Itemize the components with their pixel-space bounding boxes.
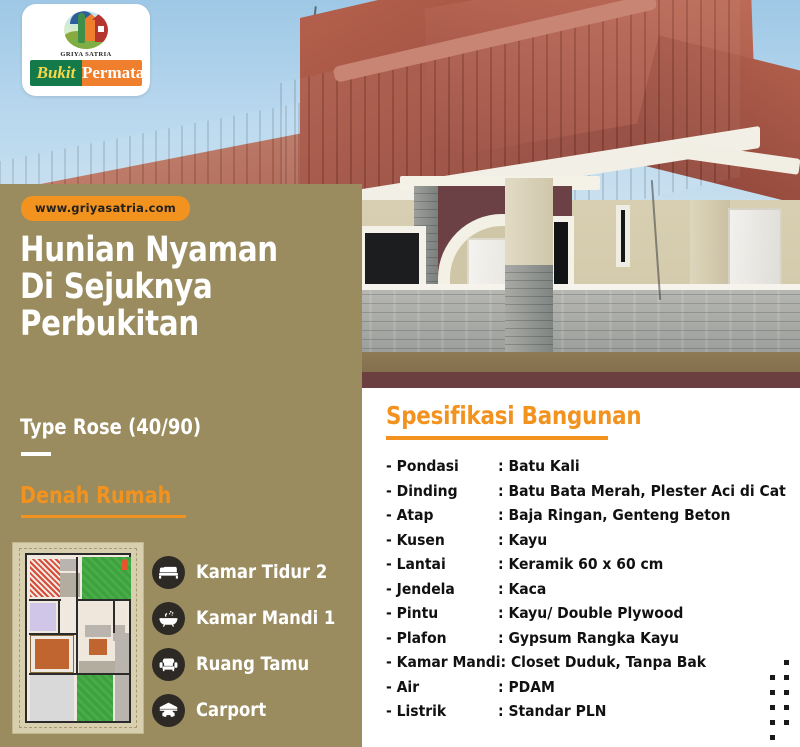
- website-url-badge[interactable]: www.griyasatria.com: [21, 196, 190, 221]
- spec-key: - Pintu: [386, 601, 498, 626]
- spec-row: - PondasiBatu Kali: [386, 454, 790, 479]
- spec-key: - Lantai: [386, 552, 498, 577]
- logo-word-permata: Permata: [82, 60, 142, 86]
- list-item[interactable]: Ruang Tamu: [152, 641, 357, 687]
- dot: [770, 735, 775, 740]
- headline-line-2: Di Sejuknya: [20, 269, 327, 306]
- armchair-icon: [152, 648, 185, 681]
- headline-line-1: Hunian Nyaman: [20, 232, 327, 269]
- spec-value: PDAM: [498, 675, 555, 700]
- spec-value: Batu Bata Merah, Plester Aci di Cat: [498, 479, 786, 504]
- dot: [784, 675, 789, 680]
- house-type-subtitle: Type Rose (40/90): [20, 415, 201, 439]
- spec-value: Keramik 60 x 60 cm: [498, 552, 663, 577]
- spec-key: - Atap: [386, 503, 498, 528]
- specification-panel: Spesifikasi Bangunan - PondasiBatu Kali-…: [362, 388, 800, 747]
- spec-key: - Air: [386, 675, 498, 700]
- spec-row: - AirPDAM: [386, 675, 790, 700]
- spec-key: - Kamar Mandi: [386, 650, 501, 675]
- dot: [770, 690, 775, 695]
- dot: [770, 675, 775, 680]
- spec-key: - Plafon: [386, 626, 498, 651]
- spec-row: - DindingBatu Bata Merah, Plester Aci di…: [386, 479, 790, 504]
- spec-row: - PintuKayu/ Double Plywood: [386, 601, 790, 626]
- list-item[interactable]: Carport: [152, 687, 357, 733]
- spec-value: Kayu/ Double Plywood: [498, 601, 683, 626]
- spec-value: Closet Duduk, Tanpa Bak: [501, 650, 707, 675]
- dot: [784, 720, 789, 725]
- spec-key: - Dinding: [386, 479, 498, 504]
- list-item[interactable]: Kamar Tidur 2: [152, 549, 357, 595]
- dot: [784, 705, 789, 710]
- floorplan-section-title: Denah Rumah: [20, 483, 171, 509]
- poster-canvas: GRIYA SATRIA Bukit Permata www.griyasatr…: [0, 0, 800, 747]
- car-garage-icon: [152, 694, 185, 727]
- floor-plan-image[interactable]: [12, 542, 144, 734]
- dot-grid-decoration: [770, 660, 796, 744]
- dot: [784, 690, 789, 695]
- spec-key: - Pondasi: [386, 454, 498, 479]
- page-title: Hunian Nyaman Di Sejuknya Perbukitan: [20, 232, 327, 343]
- spec-row: - Kamar MandiCloset Duduk, Tanpa Bak: [386, 650, 790, 675]
- dot: [770, 720, 775, 725]
- feature-list: Kamar Tidur 2 Kamar Mandi 1: [152, 549, 357, 733]
- spec-row: - JendelaKaca: [386, 577, 790, 602]
- list-item-label: Kamar Mandi 1: [196, 607, 335, 629]
- list-item-label: Kamar Tidur 2: [196, 561, 327, 583]
- spec-value: Kaca: [498, 577, 546, 602]
- spec-value: Standar PLN: [498, 699, 606, 724]
- specification-title: Spesifikasi Bangunan: [386, 401, 641, 430]
- spec-row: - LantaiKeramik 60 x 60 cm: [386, 552, 790, 577]
- bathtub-shower-icon: [152, 602, 185, 635]
- dot: [770, 705, 775, 710]
- spec-row: - ListrikStandar PLN: [386, 699, 790, 724]
- list-item-label: Ruang Tamu: [196, 653, 309, 675]
- logo-wordmark: Bukit Permata: [30, 60, 142, 86]
- specification-list: - PondasiBatu Kali- DindingBatu Bata Mer…: [386, 454, 790, 724]
- griya-satria-emblem-icon: GRIYA SATRIA: [56, 9, 116, 57]
- spec-value: Kayu: [498, 528, 547, 553]
- spec-row: - AtapBaja Ringan, Genteng Beton: [386, 503, 790, 528]
- spec-key: - Jendela: [386, 577, 498, 602]
- spec-row: - KusenKayu: [386, 528, 790, 553]
- floor-plan-drawing: [25, 553, 131, 723]
- spec-row: - PlafonGypsum Rangka Kayu: [386, 626, 790, 651]
- list-item-label: Carport: [196, 699, 266, 721]
- list-item[interactable]: Kamar Mandi 1: [152, 595, 357, 641]
- window-slit-right: [616, 205, 630, 267]
- specification-title-underline: [386, 436, 608, 440]
- spec-key: - Kusen: [386, 528, 498, 553]
- logo-word-bukit: Bukit: [30, 60, 82, 86]
- wall-plinth: [345, 372, 800, 388]
- spec-key: - Listrik: [386, 699, 498, 724]
- dot: [784, 660, 789, 665]
- brand-logo[interactable]: GRIYA SATRIA Bukit Permata: [22, 4, 150, 96]
- bed-icon: [152, 556, 185, 589]
- spec-value: Batu Kali: [498, 454, 580, 479]
- headline-line-3: Perbukitan: [20, 306, 327, 343]
- spec-value: Gypsum Rangka Kayu: [498, 626, 679, 651]
- floorplan-title-underline: [21, 515, 186, 518]
- spec-value: Baja Ringan, Genteng Beton: [498, 503, 730, 528]
- emblem-caption: GRIYA SATRIA: [56, 51, 116, 58]
- title-divider: [21, 452, 51, 456]
